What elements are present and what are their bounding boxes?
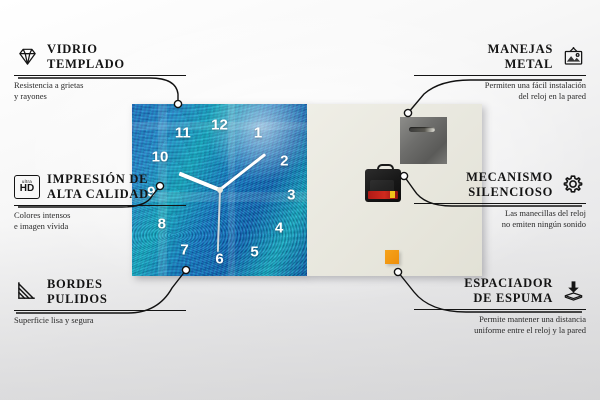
clock-numeral-6: 6 — [215, 251, 223, 266]
clock-numeral-1: 1 — [254, 126, 262, 141]
clock-numeral-2: 2 — [280, 153, 288, 168]
feature-impresion-header: ultra HD IMPRESIÓN DE ALTA CALIDAD — [14, 172, 186, 202]
mechanism-housing — [365, 169, 401, 202]
feature-impresion-rule — [14, 205, 186, 207]
ultra-hd-main-text: HD — [20, 184, 34, 194]
clock-numeral-12: 12 — [211, 117, 228, 132]
feature-vidrio-header: VIDRIO TEMPLADO — [14, 42, 186, 72]
gear-icon — [560, 172, 586, 198]
clock-numeral-7: 7 — [180, 243, 188, 258]
foam-spacer-arrow-icon — [560, 278, 586, 304]
feature-impresion-title: IMPRESIÓN DE ALTA CALIDAD — [47, 172, 149, 202]
clock-numeral-3: 3 — [287, 188, 295, 203]
feature-mecanismo-desc: Las manecillas del reloj no emiten ningú… — [414, 208, 586, 231]
clock-numeral-11: 11 — [175, 126, 191, 141]
feature-manejas-metal: MANEJAS METAL Permiten una fácil instala… — [414, 42, 586, 103]
feature-mecanismo-silencioso: MECANISMO SILENCIOSO Las manecillas del … — [414, 170, 586, 231]
clock-mechanism — [365, 164, 401, 202]
clock-hand-cap — [217, 187, 223, 193]
feature-vidrio-desc: Resistencia a grietas y rayones — [14, 80, 186, 103]
feature-bordes-desc: Superficie lisa y segura — [14, 315, 186, 326]
picture-frame-hanger-icon — [560, 44, 586, 70]
feature-manejas-rule — [414, 75, 586, 77]
hanger-keyhole-slot — [409, 127, 435, 132]
diamond-icon — [14, 44, 40, 70]
feature-espaciador-rule — [414, 309, 586, 311]
feature-impresion-alta-calidad: ultra HD IMPRESIÓN DE ALTA CALIDAD Color… — [14, 172, 186, 233]
feature-espaciador-de-espuma: ESPACIADOR DE ESPUMA Permite mantener un… — [414, 276, 586, 337]
metal-hanger-plate — [400, 117, 447, 164]
feature-manejas-title: MANEJAS METAL — [488, 42, 553, 72]
feature-vidrio-templado: VIDRIO TEMPLADO Resistencia a grietas y … — [14, 42, 186, 103]
ultra-hd-box: ultra HD — [14, 175, 40, 199]
feature-bordes-pulidos: BORDES PULIDOS Superficie lisa y segura — [14, 277, 186, 326]
feature-espaciador-header: ESPACIADOR DE ESPUMA — [414, 276, 586, 306]
feature-vidrio-title: VIDRIO TEMPLADO — [47, 42, 125, 72]
feature-vidrio-rule — [14, 75, 186, 77]
feature-mecanismo-header: MECANISMO SILENCIOSO — [414, 170, 586, 200]
feature-manejas-desc: Permiten una fácil instalación del reloj… — [414, 80, 586, 103]
foam-spacer-pad — [385, 250, 399, 264]
feature-bordes-title: BORDES PULIDOS — [47, 277, 107, 307]
feature-bordes-header: BORDES PULIDOS — [14, 277, 186, 307]
feature-manejas-header: MANEJAS METAL — [414, 42, 586, 72]
feature-mecanismo-rule — [414, 203, 586, 205]
feature-espaciador-desc: Permite mantener una distancia uniforme … — [414, 314, 586, 337]
mechanism-battery-label — [368, 191, 398, 199]
clock-numeral-10: 10 — [152, 150, 169, 165]
clock-numeral-5: 5 — [250, 244, 258, 259]
feature-impresion-desc: Colores intensos e imagen vívida — [14, 210, 186, 233]
polished-edges-icon — [14, 279, 40, 305]
ultra-hd-icon: ultra HD — [14, 174, 40, 200]
feature-bordes-rule — [14, 310, 186, 312]
clock-numeral-4: 4 — [275, 220, 283, 235]
product-infographic: 12 1 2 3 4 5 6 7 8 9 10 11 — [0, 0, 600, 400]
feature-espaciador-title: ESPACIADOR DE ESPUMA — [464, 276, 553, 306]
feature-mecanismo-title: MECANISMO SILENCIOSO — [466, 170, 553, 200]
